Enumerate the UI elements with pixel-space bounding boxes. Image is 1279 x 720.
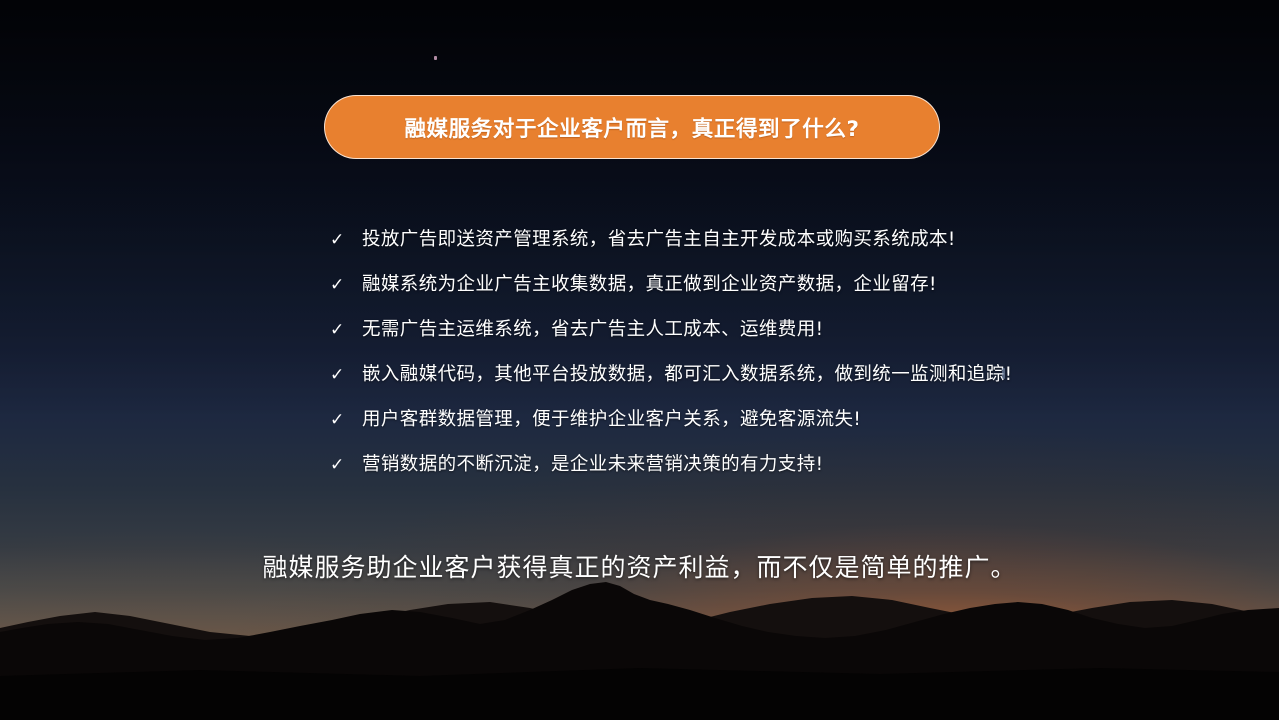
slide-conclusion-text: 融媒服务助企业客户获得真正的资产利益，而不仅是简单的推广。 (0, 548, 1279, 584)
list-item-label: 营销数据的不断沉淀，是企业未来营销决策的有力支持! (362, 450, 823, 476)
checkmark-icon: ✓ (330, 277, 362, 294)
list-item: ✓ 无需广告主运维系统，省去广告主人工成本、运维费用! (330, 315, 1160, 360)
checkmark-icon: ✓ (330, 412, 362, 429)
list-item-label: 无需广告主运维系统，省去广告主人工成本、运维费用! (362, 315, 823, 341)
list-item: ✓ 融媒系统为企业广告主收集数据，真正做到企业资产数据，企业留存! (330, 270, 1160, 315)
list-item-label: 用户客群数据管理，便于维护企业客户关系，避免客源流失! (362, 405, 861, 431)
list-item-label: 融媒系统为企业广告主收集数据，真正做到企业资产数据，企业留存! (362, 270, 937, 296)
benefit-bullet-list: ✓ 投放广告即送资产管理系统，省去广告主自主开发成本或购买系统成本! ✓ 融媒系… (330, 225, 1160, 495)
list-item-label: 投放广告即送资产管理系统，省去广告主自主开发成本或购买系统成本! (362, 225, 956, 251)
slide-title-banner: 融媒服务对于企业客户而言，真正得到了什么? (324, 95, 940, 159)
checkmark-icon: ✓ (330, 322, 362, 339)
list-item-label: 嵌入融媒代码，其他平台投放数据，都可汇入数据系统，做到统一监测和追踪! (362, 360, 1012, 386)
list-item: ✓ 投放广告即送资产管理系统，省去广告主自主开发成本或购买系统成本! (330, 225, 1160, 270)
slide-title-text: 融媒服务对于企业客户而言，真正得到了什么? (404, 112, 859, 143)
checkmark-icon: ✓ (330, 367, 362, 384)
checkmark-icon: ✓ (330, 232, 362, 249)
list-item: ✓ 营销数据的不断沉淀，是企业未来营销决策的有力支持! (330, 450, 1160, 495)
list-item: ✓ 用户客群数据管理，便于维护企业客户关系，避免客源流失! (330, 405, 1160, 450)
list-item: ✓ 嵌入融媒代码，其他平台投放数据，都可汇入数据系统，做到统一监测和追踪! (330, 360, 1160, 405)
checkmark-icon: ✓ (330, 457, 362, 474)
mountain-foreground-band (0, 650, 1279, 720)
slide-canvas: 融媒服务对于企业客户而言，真正得到了什么? ✓ 投放广告即送资产管理系统，省去广… (0, 0, 1279, 720)
